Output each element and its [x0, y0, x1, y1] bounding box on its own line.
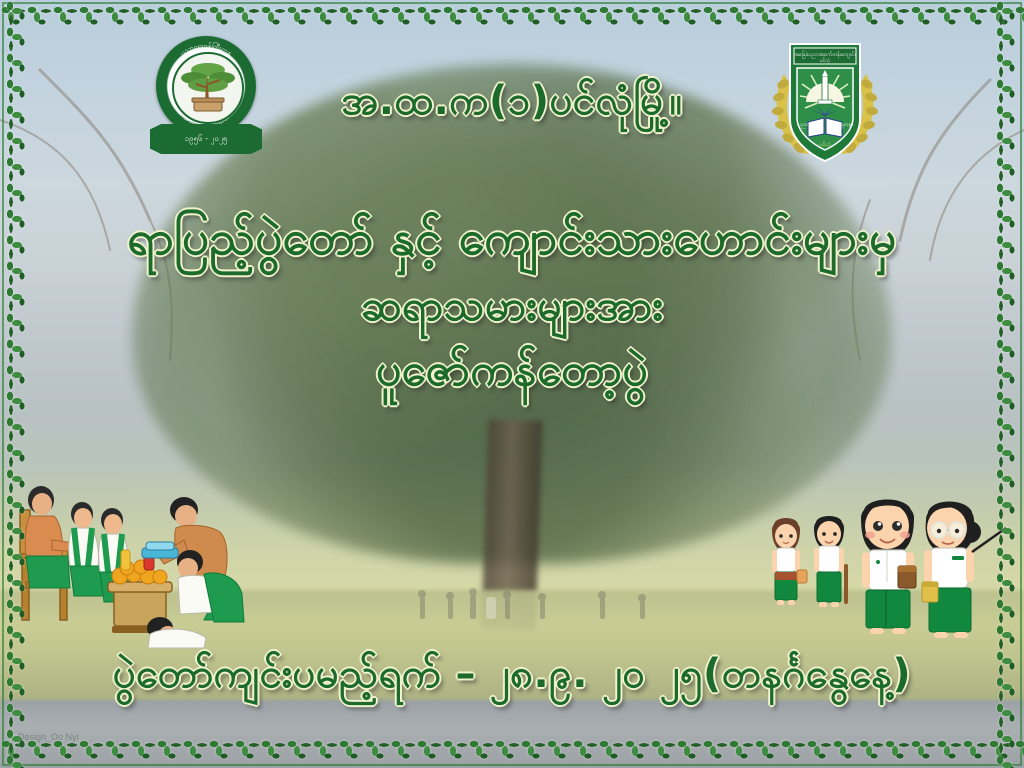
cartoon-boy-large — [861, 500, 916, 635]
svg-text:ပင်လုံ: ပင်လုံ — [819, 140, 830, 149]
svg-text:အခြေခံပညာအထက်တန်းကျောင်း: အခြေခံပညာအထက်တန်းကျောင်း — [793, 51, 856, 58]
cartoon-boy-small — [814, 516, 848, 607]
headline-line-2: ဆရာသမားများအား — [0, 282, 1024, 330]
headline-block: ရာပြည့်ပွဲတော် နှင့် ကျောင်းသားဟောင်းမျာ… — [0, 212, 1024, 397]
event-date-separator: – — [442, 651, 491, 697]
poster-canvas: ပညာရေးဝန်ကြီးဌာန အထက်တန်းကျောင်း ၁၉၅၆ - … — [0, 0, 1024, 768]
cartoon-teacher — [922, 502, 1006, 639]
event-date-label: ပွဲတော်ကျင်းပမည့်ရက် — [113, 651, 442, 697]
illustration-homage-scene — [8, 470, 270, 650]
designer-watermark: Design_Oo Nyi — [18, 732, 79, 742]
event-date-line: ပွဲတော်ကျင်းပမည့်ရက်–၂၈.၉. ၂၀ ၂၅(တနင်္ဂန… — [0, 648, 1024, 707]
headline-line-1: ရာပြည့်ပွဲတော် နှင့် ကျောင်းသားဟောင်းမျာ… — [0, 212, 1024, 266]
prostrating-child — [147, 617, 206, 648]
background-road — [0, 700, 1024, 768]
cartoon-girl-small — [772, 518, 807, 605]
emblem-ribbon-banner: ၁၉၅၆ - ၂၀၂၅ — [150, 124, 262, 154]
headline-line-3: ပူဇော်ကန်တော့ပွဲ — [0, 346, 1024, 397]
svg-text:ပင်လုံ: ပင်လုံ — [820, 58, 831, 64]
school-name-title: အ.ထ.က(၁)ပင်လုံမြို့။ — [0, 78, 1024, 124]
emblem-ribbon-text: ၁၉၅၆ - ၂၀၂၅ — [150, 124, 262, 154]
event-date-value: ၂၈.၉. ၂၀ ၂၅(တနင်္ဂနွေနေ့) — [490, 651, 911, 697]
illustration-cartoon-students — [766, 486, 1006, 652]
